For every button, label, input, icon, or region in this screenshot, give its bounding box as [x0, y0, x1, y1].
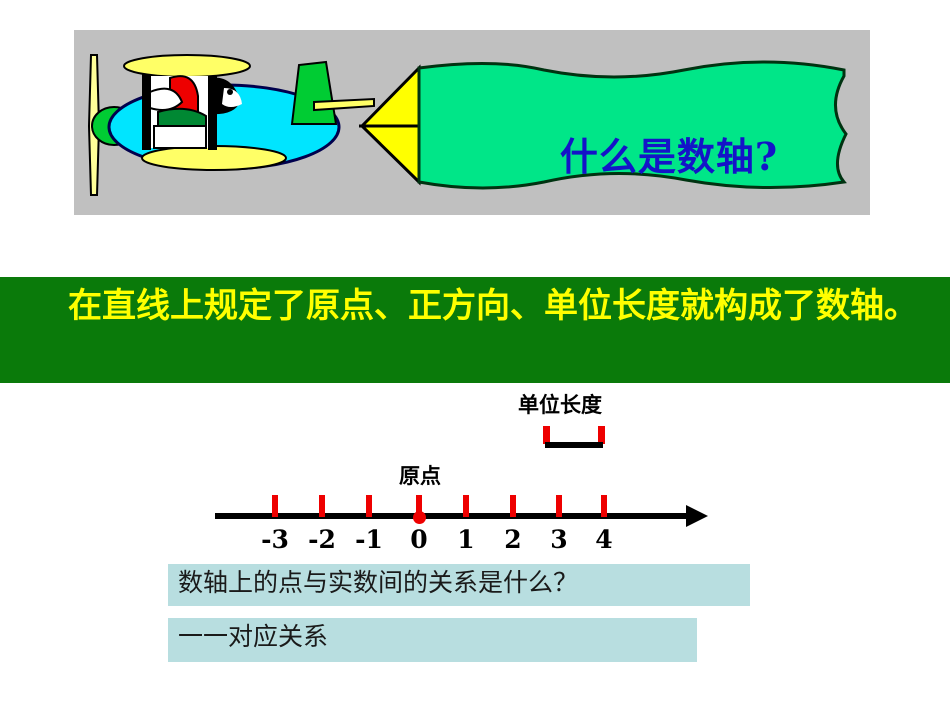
axis-tick [601, 495, 607, 517]
axis-tick [319, 495, 325, 517]
axis-group: -3 -2 -1 0 1 2 3 4 [0, 495, 950, 555]
axis-arrow-icon [686, 505, 708, 527]
origin-dot [413, 511, 426, 524]
axis-tick-label: -1 [349, 525, 389, 554]
definition-text: 在直线上规定了原点、正方向、单位长度就构成了数轴。 [0, 283, 950, 329]
unit-length-bracket [543, 426, 605, 448]
axis-line [215, 513, 693, 519]
axis-tick [366, 495, 372, 517]
title-illustration-band: 什么是数轴? [74, 30, 870, 215]
axis-tick-label: 0 [399, 525, 439, 554]
axis-tick-label: 2 [493, 525, 533, 554]
axis-tick-label: 4 [584, 525, 624, 554]
question-box: 数轴上的点与实数间的关系是什么？ [168, 564, 750, 606]
axis-tick [510, 495, 516, 517]
axis-tick [556, 495, 562, 517]
axis-tick [463, 495, 469, 517]
banner-title-text: 什么是数轴? [504, 138, 834, 176]
answer-box: 一一对应关系 [168, 618, 697, 662]
unit-bracket-bar [545, 442, 603, 448]
definition-block: 在直线上规定了原点、正方向、单位长度就构成了数轴。 [0, 277, 950, 383]
axis-tick [272, 495, 278, 517]
axis-tick-label: -3 [255, 525, 295, 554]
number-line-diagram: 单位长度 原点 -3 -2 -1 0 1 2 3 4 [0, 383, 950, 558]
unit-length-label: 单位长度 [460, 389, 660, 419]
origin-label: 原点 [345, 460, 495, 490]
banner-ribbon-shape [74, 30, 870, 215]
axis-tick-label: 1 [446, 525, 486, 554]
axis-tick-label: -2 [302, 525, 342, 554]
axis-tick-label: 3 [539, 525, 579, 554]
